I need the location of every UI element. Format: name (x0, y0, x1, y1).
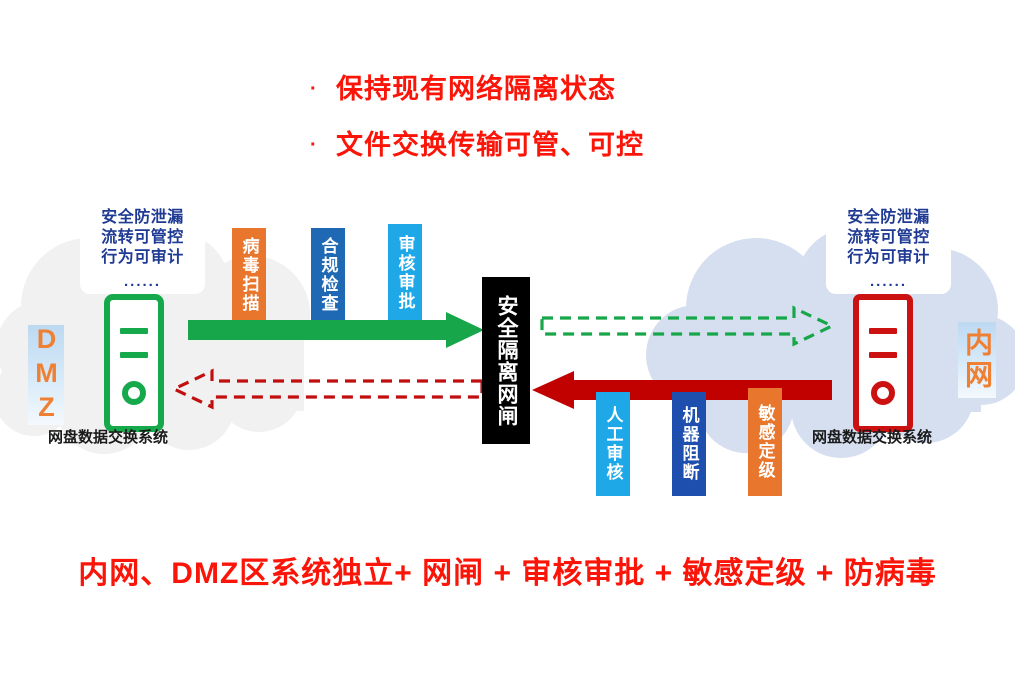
chip-manual-review: 人工审核 (596, 392, 630, 496)
bullet-text-1: 保持现有网络隔离状态 (336, 72, 616, 106)
zone-label-dmz: DMZ (28, 325, 64, 425)
intranet-callout-bubble: 安全防泄漏 流转可管控 行为可审计 ...... (826, 200, 951, 294)
intranet-callout-line-2: 流转可管控 (836, 228, 941, 248)
arrow-gateway-to-dmz-inbound (170, 368, 482, 415)
bullet-text-2: 文件交换传输可管、可控 (336, 128, 644, 162)
dmz-callout-line-1: 安全防泄漏 (90, 208, 195, 228)
arrow-dmz-to-gateway-outbound (188, 312, 484, 353)
bullet-item-1: · 保持现有网络隔离状态 (310, 72, 830, 106)
dmz-server-label: 网盘数据交换系统 (48, 426, 168, 447)
bullet-marker-icon: · (310, 72, 336, 106)
intranet-callout-line-3: 行为可审计 (836, 248, 941, 268)
chip-compliance-check: 合规检查 (311, 228, 345, 322)
chip-sensitivity-grading: 敏感定级 (748, 388, 782, 496)
dmz-callout-bubble: 安全防泄漏 流转可管控 行为可审计 ...... (80, 200, 205, 294)
chip-virus-scan: 病毒扫描 (232, 228, 266, 322)
bullet-item-2: · 文件交换传输可管、可控 (310, 128, 830, 162)
dmz-callout-line-3: 行为可审计 (90, 248, 195, 268)
chip-review-approval: 审核审批 (388, 224, 422, 322)
dmz-server-icon (103, 293, 165, 438)
intranet-callout-dots: ...... (836, 274, 941, 290)
summary-caption: 内网、DMZ区系统独立+ 网闸 + 审核审批 + 敏感定级 + 防病毒 (0, 548, 1015, 592)
chip-machine-block: 机器阻断 (672, 392, 706, 496)
bullet-list: · 保持现有网络隔离状态 · 文件交换传输可管、可控 (310, 72, 830, 184)
dmz-callout-line-2: 流转可管控 (90, 228, 195, 248)
dmz-callout-dots: ...... (90, 274, 195, 290)
zone-label-intranet: 内网 (958, 322, 996, 398)
intranet-server-icon (852, 293, 914, 438)
intranet-server-label: 网盘数据交换系统 (812, 426, 932, 447)
arrow-gateway-to-intranet-outbound (540, 305, 836, 352)
security-gateway-box: 安全隔离网闸 (482, 277, 530, 444)
diagram-canvas: · 保持现有网络隔离状态 · 文件交换传输可管、可控 (0, 0, 1015, 675)
intranet-callout-line-1: 安全防泄漏 (836, 208, 941, 228)
bullet-marker-icon: · (310, 128, 336, 162)
